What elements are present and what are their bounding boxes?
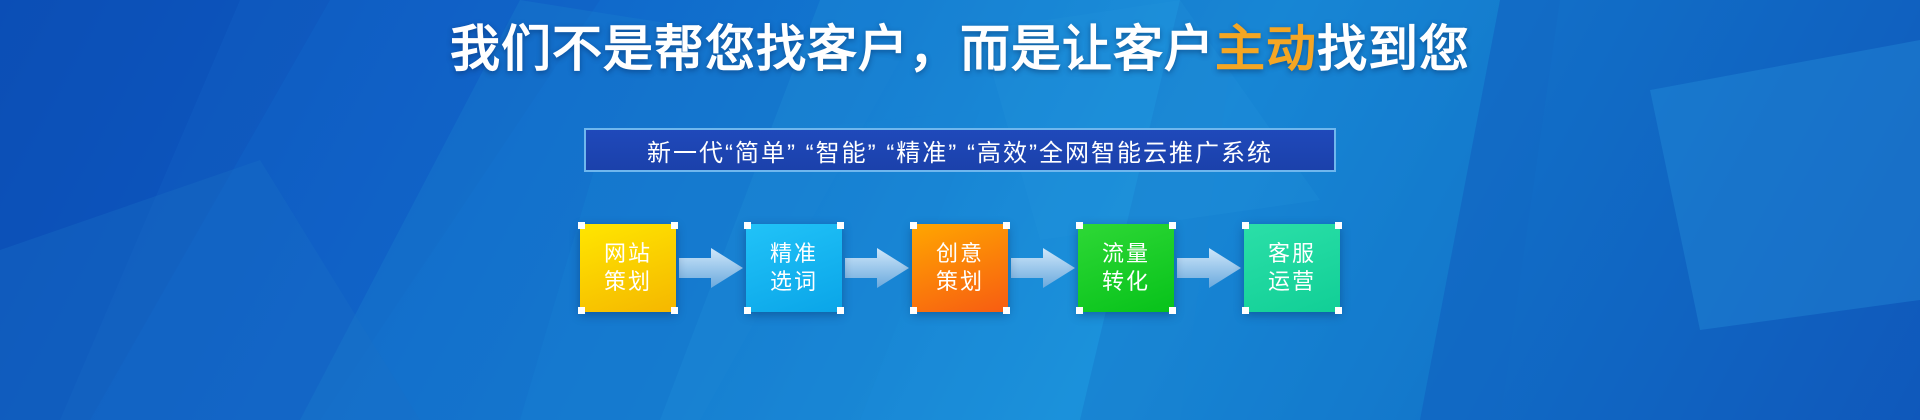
flow-step-label-line1: 创意 (936, 240, 984, 268)
corner-marker (578, 222, 585, 229)
flow-step-label-line2: 策划 (936, 268, 984, 296)
promo-banner: 我们不是帮您找客户，而是让客户主动找到您 新一代“简单” “智能” “精准” “… (0, 0, 1920, 420)
corner-marker (837, 307, 844, 314)
corner-marker (910, 222, 917, 229)
process-flow: 网站 策划 精准 选词 (580, 224, 1340, 312)
flow-step-label-line2: 转化 (1102, 268, 1150, 296)
flow-arrow-1 (676, 224, 746, 312)
flow-step-label-line1: 网站 (604, 240, 652, 268)
corner-marker (1169, 222, 1176, 229)
corner-marker (671, 307, 678, 314)
corner-marker (1076, 222, 1083, 229)
corner-marker (671, 222, 678, 229)
flow-arrow-3 (1008, 224, 1078, 312)
flow-step-label-line2: 策划 (604, 268, 652, 296)
corner-marker (1003, 222, 1010, 229)
subtitle-text: 新一代“简单” “智能” “精准” “高效”全网智能云推广系统 (647, 133, 1273, 168)
corner-marker (578, 307, 585, 314)
headline-accent: 主动 (1215, 21, 1317, 77)
corner-marker (744, 222, 751, 229)
flow-step-customer-service[interactable]: 客服 运营 (1244, 224, 1340, 312)
flow-step-traffic-conversion[interactable]: 流量 转化 (1078, 224, 1174, 312)
flow-step-label-line2: 运营 (1268, 268, 1316, 296)
corner-marker (1242, 307, 1249, 314)
flow-step-label-line1: 精准 (770, 240, 818, 268)
corner-marker (1242, 222, 1249, 229)
corner-marker (910, 307, 917, 314)
headline: 我们不是帮您找客户，而是让客户主动找到您 (0, 22, 1920, 77)
headline-part2: 找到您 (1317, 21, 1470, 77)
corner-marker (1335, 307, 1342, 314)
subtitle-bar: 新一代“简单” “智能” “精准” “高效”全网智能云推广系统 (584, 128, 1336, 172)
flow-step-label-line1: 客服 (1268, 240, 1316, 268)
flow-step-website-planning[interactable]: 网站 策划 (580, 224, 676, 312)
headline-part1: 我们不是帮您找客户，而是让客户 (450, 21, 1215, 77)
flow-step-precise-keywords[interactable]: 精准 选词 (746, 224, 842, 312)
flow-step-creative-planning[interactable]: 创意 策划 (912, 224, 1008, 312)
corner-marker (1003, 307, 1010, 314)
flow-step-label-line1: 流量 (1102, 240, 1150, 268)
corner-marker (837, 222, 844, 229)
corner-marker (1169, 307, 1176, 314)
corner-marker (1076, 307, 1083, 314)
corner-marker (744, 307, 751, 314)
flow-arrow-2 (842, 224, 912, 312)
flow-step-label-line2: 选词 (770, 268, 818, 296)
flow-arrow-4 (1174, 224, 1244, 312)
corner-marker (1335, 222, 1342, 229)
